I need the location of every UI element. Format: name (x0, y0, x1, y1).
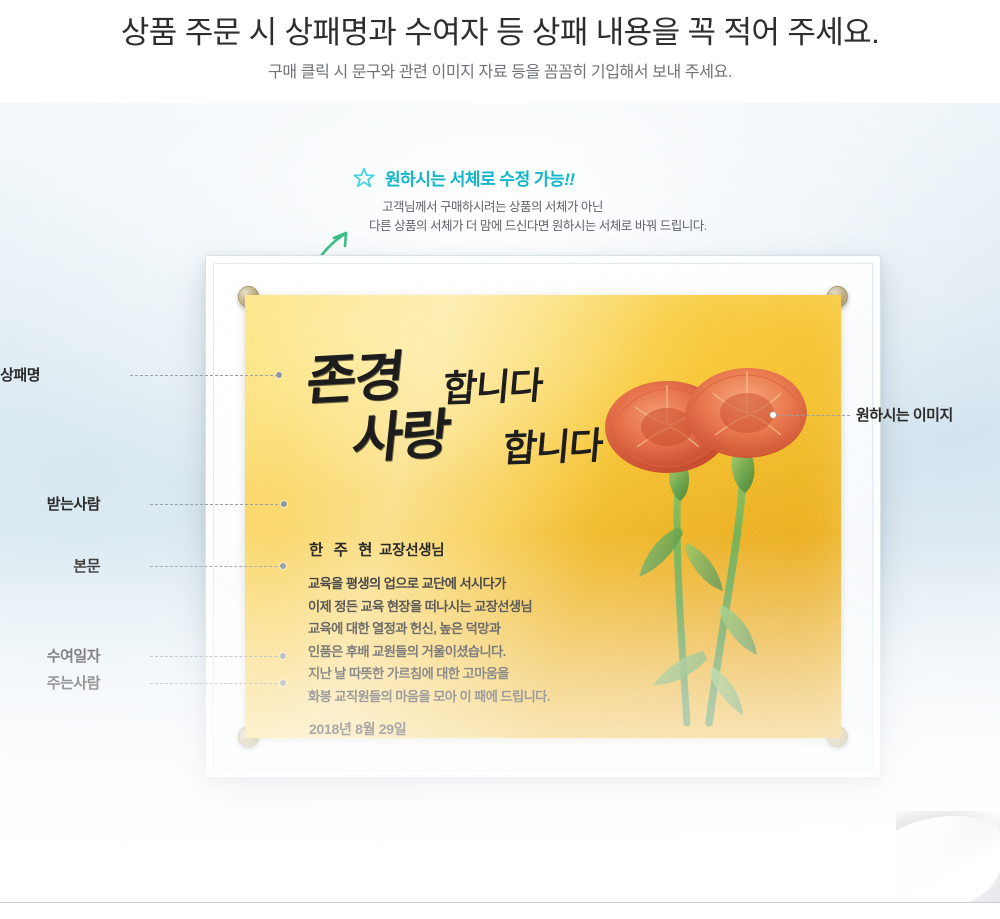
plaque-recipient: 한 주 현 교장선생님 (309, 538, 444, 560)
font-notice-line-1: 고객님께서 구매하시려는 상품의 서체가 아닌 (382, 198, 772, 217)
callout-leader-line (150, 566, 282, 567)
callout-label-image: 원하시는 이미지 (856, 404, 953, 425)
plaque-award-date: 2018년 8월 29일 (309, 719, 406, 738)
calligraphy-line2-main: 사랑 (350, 406, 452, 465)
section-bottom-divider (0, 902, 1000, 903)
font-notice-line-2: 다른 상품의 서체가 더 맘에 드신다면 원하시는 서체로 바꿔 드립니다. (369, 217, 772, 236)
callout-endpoint-dot (281, 501, 287, 507)
callout-endpoint-dot (276, 372, 282, 378)
page-title: 상품 주문 시 상패명과 수여자 등 상패 내용을 꼭 적어 주세요. (0, 12, 1000, 54)
callout-label-award-giver: 주는사람 (47, 672, 100, 693)
recipient-title: 교장선생님 (379, 543, 444, 559)
carnation-illustration (575, 355, 825, 730)
callout-label-body: 본문 (73, 555, 100, 576)
callout-endpoint-dot (280, 563, 286, 569)
calligraphy-line1-main: 존경 (304, 348, 406, 407)
recipient-name: 한 주 현 (309, 542, 375, 559)
callout-label-award-date: 수여일자 (47, 645, 100, 666)
callout-endpoint-dot (280, 680, 286, 686)
page-header: 상품 주문 시 상패명과 수여자 등 상패 내용을 꼭 적어 주세요. 구매 클… (0, 0, 1000, 103)
callout-endpoint-dot (280, 653, 286, 659)
font-notice-exclamation: !! (564, 170, 574, 189)
award-plaque: 존경 합니다 사랑 합니다 한 주 현 교장선생님 교육을 평생의 업으로 교단… (205, 255, 881, 778)
callout-leader-line (130, 375, 278, 376)
product-illustration-stage: 원하시는 서체로 수정 가능!! 고객님께서 구매하시려는 상품의 서체가 아닌… (0, 103, 1000, 919)
star-icon (352, 166, 376, 190)
font-notice-heading: 원하시는 서체로 수정 가능!! (385, 165, 575, 190)
font-change-notice: 원하시는 서체로 수정 가능!! 고객님께서 구매하시려는 상품의 서체가 아닌… (352, 165, 772, 236)
font-notice-heading-row: 원하시는 서체로 수정 가능!! (352, 165, 772, 190)
callout-label-recipient: 받는사람 (47, 493, 100, 514)
callout-leader-line (150, 683, 282, 684)
callout-leader-line (150, 504, 283, 505)
calligraphy-line1-suffix: 합니다 (441, 367, 544, 407)
page-subtitle: 구매 클릭 시 문구와 관련 이미지 자료 등을 꼼꼼히 기입해서 보내 주세요… (0, 62, 1000, 84)
callout-leader-line (776, 415, 850, 416)
callout-label-title: 제목, 상패명 (0, 364, 40, 385)
plaque-gold-panel: 존경 합니다 사랑 합니다 한 주 현 교장선생님 교육을 평생의 업으로 교단… (245, 295, 841, 738)
page-curl-corner (896, 811, 1000, 903)
callout-leader-line (150, 656, 282, 657)
